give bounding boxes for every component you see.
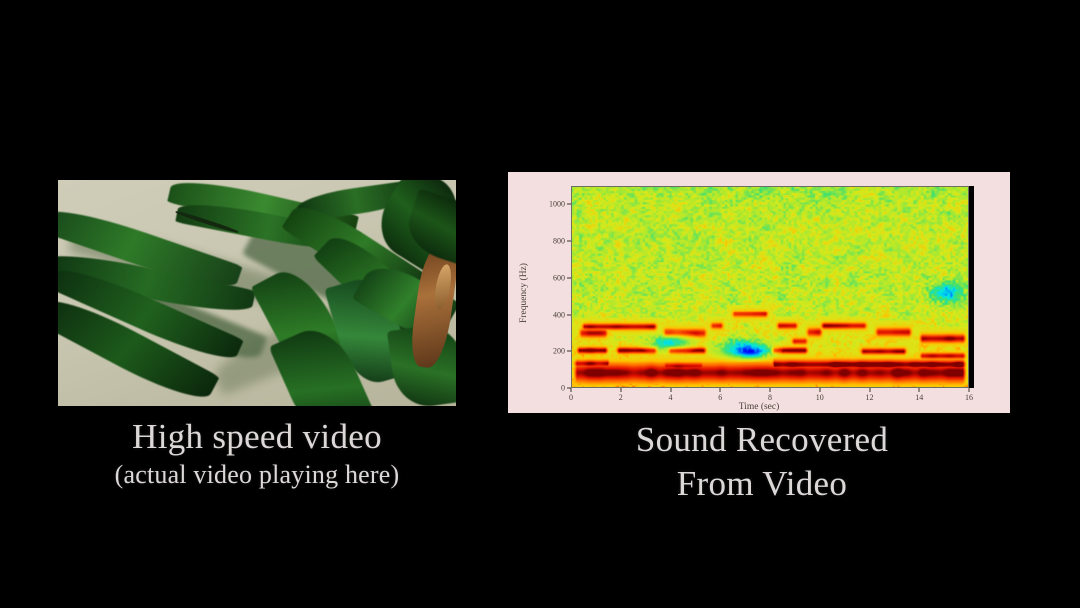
y-tick-label: 1000: [549, 200, 565, 209]
spectrogram-plot: [571, 186, 969, 388]
x-tick-label: 8: [768, 393, 772, 402]
y-tick-label: 600: [553, 273, 565, 282]
x-tick-mark: [919, 388, 920, 392]
y-tick-label: 200: [553, 347, 565, 356]
x-tick-label: 10: [816, 393, 824, 402]
y-tick-mark: [567, 314, 571, 315]
x-tick-label: 2: [619, 393, 623, 402]
x-tick-mark: [571, 388, 572, 392]
right-caption-line2: From Video: [545, 462, 979, 506]
y-tick-mark: [567, 204, 571, 205]
right-edge-black-bar: [969, 186, 974, 388]
right-caption-line1: Sound Recovered: [545, 418, 979, 462]
spectrogram-image: [572, 187, 968, 387]
x-tick-mark: [770, 388, 771, 392]
y-tick-mark: [567, 241, 571, 242]
x-tick-label: 12: [866, 393, 874, 402]
x-tick-mark: [670, 388, 671, 392]
x-tick-mark: [869, 388, 870, 392]
x-axis-label: Time (sec): [739, 402, 780, 412]
x-tick-mark: [720, 388, 721, 392]
y-tick-label: 0: [561, 384, 565, 393]
x-tick-mark: [819, 388, 820, 392]
y-tick-label: 800: [553, 237, 565, 246]
x-tick-mark: [620, 388, 621, 392]
y-tick-label: 400: [553, 310, 565, 319]
left-caption-line2: (actual video playing here): [40, 458, 474, 491]
left-caption: High speed video (actual video playing h…: [40, 416, 474, 491]
x-tick-label: 14: [915, 393, 923, 402]
spectrogram-axes: 02004006008001000 0246810121416: [571, 186, 969, 388]
high-speed-video-panel[interactable]: [58, 180, 456, 406]
video-frame: [58, 180, 456, 406]
y-axis-label: Frequency (Hz): [519, 263, 529, 323]
spectrogram-panel[interactable]: Frequency (Hz) Time (sec) 02004006008001…: [508, 172, 1010, 413]
x-tick-mark: [969, 388, 970, 392]
left-caption-line1: High speed video: [40, 416, 474, 458]
slide-root: High speed video (actual video playing h…: [0, 0, 1080, 608]
x-tick-label: 4: [669, 393, 673, 402]
x-tick-label: 0: [569, 393, 573, 402]
right-caption: Sound Recovered From Video: [545, 418, 979, 506]
y-tick-mark: [567, 351, 571, 352]
x-tick-label: 6: [718, 393, 722, 402]
y-tick-mark: [567, 277, 571, 278]
x-tick-label: 16: [965, 393, 973, 402]
